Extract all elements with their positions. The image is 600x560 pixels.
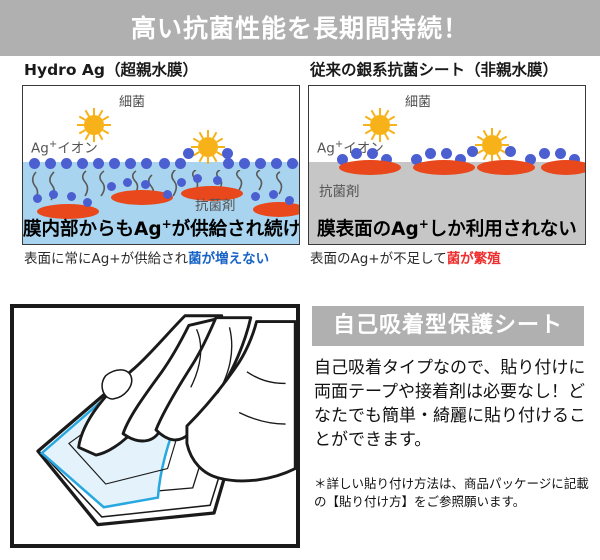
agent-label-right: 抗菌剤 xyxy=(319,186,360,200)
headline-hydro-ag: 膜内部からもAg+が供給され続ける xyxy=(23,218,299,241)
headline-sup: + xyxy=(162,217,172,231)
ion-dot xyxy=(177,178,186,187)
caption-normal-text: 表面のAg+が不足して xyxy=(310,251,447,267)
ion-dot xyxy=(163,190,172,199)
self-adhesive-section: 自己吸着型保護シート 自己吸着タイプなので、貼り付けに両面テープや接着剤は必要な… xyxy=(312,306,596,550)
ion-dot xyxy=(125,158,136,169)
body-text: 自己吸着タイプなので、貼り付けに両面テープや接着剤は必要なし！どなたでも簡単・綺… xyxy=(314,356,592,453)
bacteria-icon xyxy=(363,108,397,142)
ion-dot xyxy=(287,158,298,169)
ion-dot xyxy=(183,148,194,159)
panel-hydro-ag-title: Hydro Ag（超親水膜） xyxy=(24,62,300,79)
ion-dot xyxy=(159,158,170,169)
headline-part-2: しか利用されない xyxy=(429,219,577,240)
antimicrobial-agent xyxy=(253,202,300,217)
ion-dot xyxy=(141,158,152,169)
page-title: 高い抗菌性能を長期間持続！ xyxy=(131,16,469,41)
diagram-conventional: 細菌 xyxy=(308,85,586,245)
headline-part-2: が供給され続ける xyxy=(172,219,300,240)
comparison-row: Hydro Ag（超親水膜） 細菌 xyxy=(0,62,600,292)
headline-conventional: 膜表面のAg+しか利用されない xyxy=(309,218,585,241)
note-text: ＊詳しい貼り付け方法は、商品パッケージに記載の【貼り付け方】をご参照願います。 xyxy=(314,475,596,511)
ion-dot xyxy=(175,158,186,169)
headline-sup: + xyxy=(419,217,429,231)
header-banner: 高い抗菌性能を長期間持続！ xyxy=(0,0,600,56)
ion-dot xyxy=(141,180,150,189)
panel-conventional: 従来の銀系抗菌シート（非親水膜） 細菌 xyxy=(308,62,586,292)
bacteria-icon xyxy=(77,108,111,142)
ion-dot xyxy=(45,158,56,169)
application-illustration xyxy=(10,304,300,548)
ion-dot xyxy=(239,158,250,169)
ion-dot xyxy=(505,146,516,157)
ion-dot xyxy=(77,158,88,169)
sub-banner-title: 自己吸着型保護シート xyxy=(333,315,563,337)
ion-dot xyxy=(61,158,72,169)
ion-dot xyxy=(123,178,132,187)
caption-normal-text: 表面に常にAg+が供給され xyxy=(24,251,188,267)
ion-dot xyxy=(83,198,92,207)
panel-hydro-ag: Hydro Ag（超親水膜） 細菌 xyxy=(22,62,300,292)
caption-highlight-text: 菌が繁殖 xyxy=(447,251,501,267)
agent-label-left: 抗菌剤 xyxy=(195,200,236,214)
ion-dot xyxy=(269,190,278,199)
ag-ion-label-sup: + xyxy=(335,139,343,150)
ion-dot xyxy=(555,148,566,159)
ion-dot xyxy=(109,158,120,169)
caption-highlight-text: 菌が増えない xyxy=(188,251,269,267)
bacteria-label-right: 細菌 xyxy=(405,96,431,109)
ag-ion-label-text: Ag xyxy=(31,141,49,157)
antimicrobial-agent xyxy=(413,160,475,175)
headline-part-1: 膜表面のAg xyxy=(317,219,419,240)
antimicrobial-agent xyxy=(339,160,401,175)
ag-ion-label-sup: + xyxy=(49,139,57,150)
ion-dot xyxy=(367,148,378,159)
ion-dot xyxy=(49,190,58,199)
ion-dot xyxy=(67,192,76,201)
sub-banner: 自己吸着型保護シート xyxy=(312,306,584,346)
ion-dot xyxy=(425,148,436,159)
ion-dot xyxy=(539,148,550,159)
ion-dot xyxy=(441,148,452,159)
hands-applying-sheet-drawing xyxy=(14,308,296,544)
ag-ion-label-left: Ag+イオン xyxy=(31,140,98,156)
bacteria-icon xyxy=(475,128,509,162)
bacteria-icon xyxy=(191,130,225,164)
ag-ion-label-tail: イオン xyxy=(57,141,98,157)
ion-dot xyxy=(193,174,202,183)
ag-ion-label-text: Ag xyxy=(317,141,335,157)
headline-part-1: 膜内部からもAg xyxy=(23,219,162,240)
ion-dot xyxy=(213,176,222,185)
antimicrobial-agent xyxy=(477,160,535,175)
ion-dot xyxy=(107,182,116,191)
panel-conventional-title: 従来の銀系抗菌シート（非親水膜） xyxy=(310,62,586,79)
ion-dot xyxy=(223,158,234,169)
ion-dot xyxy=(255,158,266,169)
ion-dot xyxy=(33,194,42,203)
infographic-root: 高い抗菌性能を長期間持続！ Hydro Ag（超親水膜） 細菌 xyxy=(0,0,600,560)
antimicrobial-agent xyxy=(541,160,586,175)
ion-dot xyxy=(285,196,294,205)
diagram-hydro-ag: 細菌 xyxy=(22,85,300,245)
ion-dot xyxy=(251,192,260,201)
caption-conventional: 表面のAg+が不足して菌が繁殖 xyxy=(310,251,586,267)
ion-dot xyxy=(93,158,104,169)
ion-dot xyxy=(271,158,282,169)
bacteria-label-left: 細菌 xyxy=(119,96,145,109)
ion-dot xyxy=(351,148,362,159)
ion-dot xyxy=(467,146,478,157)
caption-hydro-ag: 表面に常にAg+が供給され菌が増えない xyxy=(24,251,300,267)
ion-dot xyxy=(29,158,40,169)
